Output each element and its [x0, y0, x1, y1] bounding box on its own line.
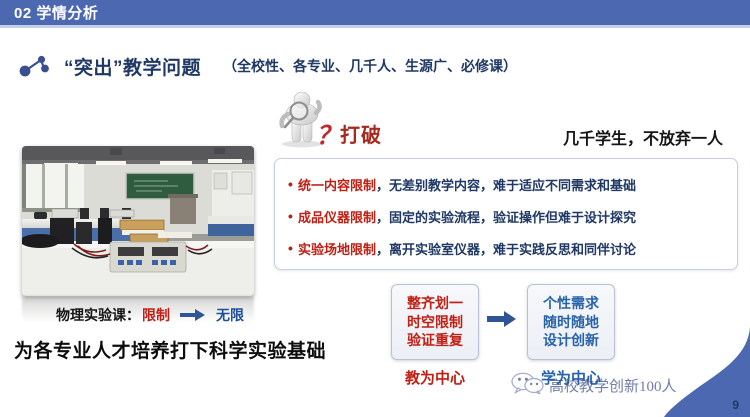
- bullet-red-text: 实验场地限制: [298, 239, 376, 258]
- right-arrow-icon: [180, 308, 206, 322]
- bullet-blue-text: ，固定的实验流程，验证操作但难于设计探究: [376, 207, 636, 226]
- teach-line-3: 验证重复: [407, 331, 463, 349]
- problems-panel: • 统一内容限制 ，无差别教学内容，难于适应不同需求和基础 • 成品仪器限制 ，…: [274, 158, 738, 270]
- bullet-red-text: 统一内容限制: [298, 175, 376, 194]
- physics-unlimited-label: 无限: [216, 305, 244, 325]
- learn-line-3: 设计创新: [543, 331, 599, 349]
- wechat-logo-icon: [511, 372, 545, 399]
- teach-line-1: 整齐划一: [407, 294, 463, 312]
- break-label: 打破: [340, 119, 382, 148]
- learner-centered-box: 个性需求 随时随地 设计创新: [527, 284, 615, 360]
- teach-line-2: 时空限制: [407, 313, 463, 331]
- page-title: 02 学情分析: [0, 2, 98, 23]
- teacher-centered-box: 整齐划一 时空限制 验证重复: [391, 284, 479, 360]
- slide-header-bar: 02 学情分析: [0, 0, 750, 25]
- bullet-blue-text: ，离开实验室仪器，难于实践反思和同伴讨论: [376, 239, 636, 258]
- bullet-marker: •: [283, 240, 298, 256]
- section-subheading: （全校性、各专业、几千人、生源广、必修课）: [223, 56, 517, 76]
- section-title-row: “突出”教学问题 （全校性、各专业、几千人、生源广、必修课）: [0, 46, 750, 86]
- question-mark-label: ？: [316, 116, 341, 152]
- learn-line-2: 随时随地: [543, 313, 599, 331]
- bullet-item: • 实验场地限制 ，离开实验室仪器，难于实践反思和同伴讨论: [283, 232, 729, 264]
- bullet-red-text: 成品仪器限制: [298, 207, 376, 226]
- bullet-item: • 成品仪器限制 ，固定的实验流程，验证操作但难于设计探究: [283, 200, 729, 232]
- bullet-marker: •: [283, 208, 298, 224]
- physics-lab-classroom-photo: [22, 146, 254, 296]
- bullet-blue-text: ，无差别教学内容，难于适应不同需求和基础: [376, 175, 636, 194]
- bullet-marker: •: [283, 176, 298, 192]
- header-underline: [0, 25, 750, 28]
- physics-course-line: 物理实验课： 限制 无限: [56, 305, 244, 325]
- section-heading: “突出”教学问题: [64, 53, 201, 80]
- page-number: 9: [732, 398, 739, 412]
- students-headline: 几千学生，不放弃一人: [563, 125, 723, 149]
- corner-swoosh-decoration: [620, 327, 750, 417]
- physics-limited-label: 限制: [142, 305, 170, 325]
- node-network-icon: [14, 50, 56, 82]
- compare-right-arrow-icon: [487, 310, 517, 333]
- bullet-item: • 统一内容限制 ，无差别教学内容，难于适应不同需求和基础: [283, 168, 729, 200]
- learn-line-1: 个性需求: [543, 294, 599, 312]
- foundation-statement: 为各专业人才培养打下科学实验基础: [14, 336, 326, 363]
- teacher-centered-caption: 教为中心: [389, 367, 481, 388]
- physics-course-label: 物理实验课：: [56, 305, 140, 325]
